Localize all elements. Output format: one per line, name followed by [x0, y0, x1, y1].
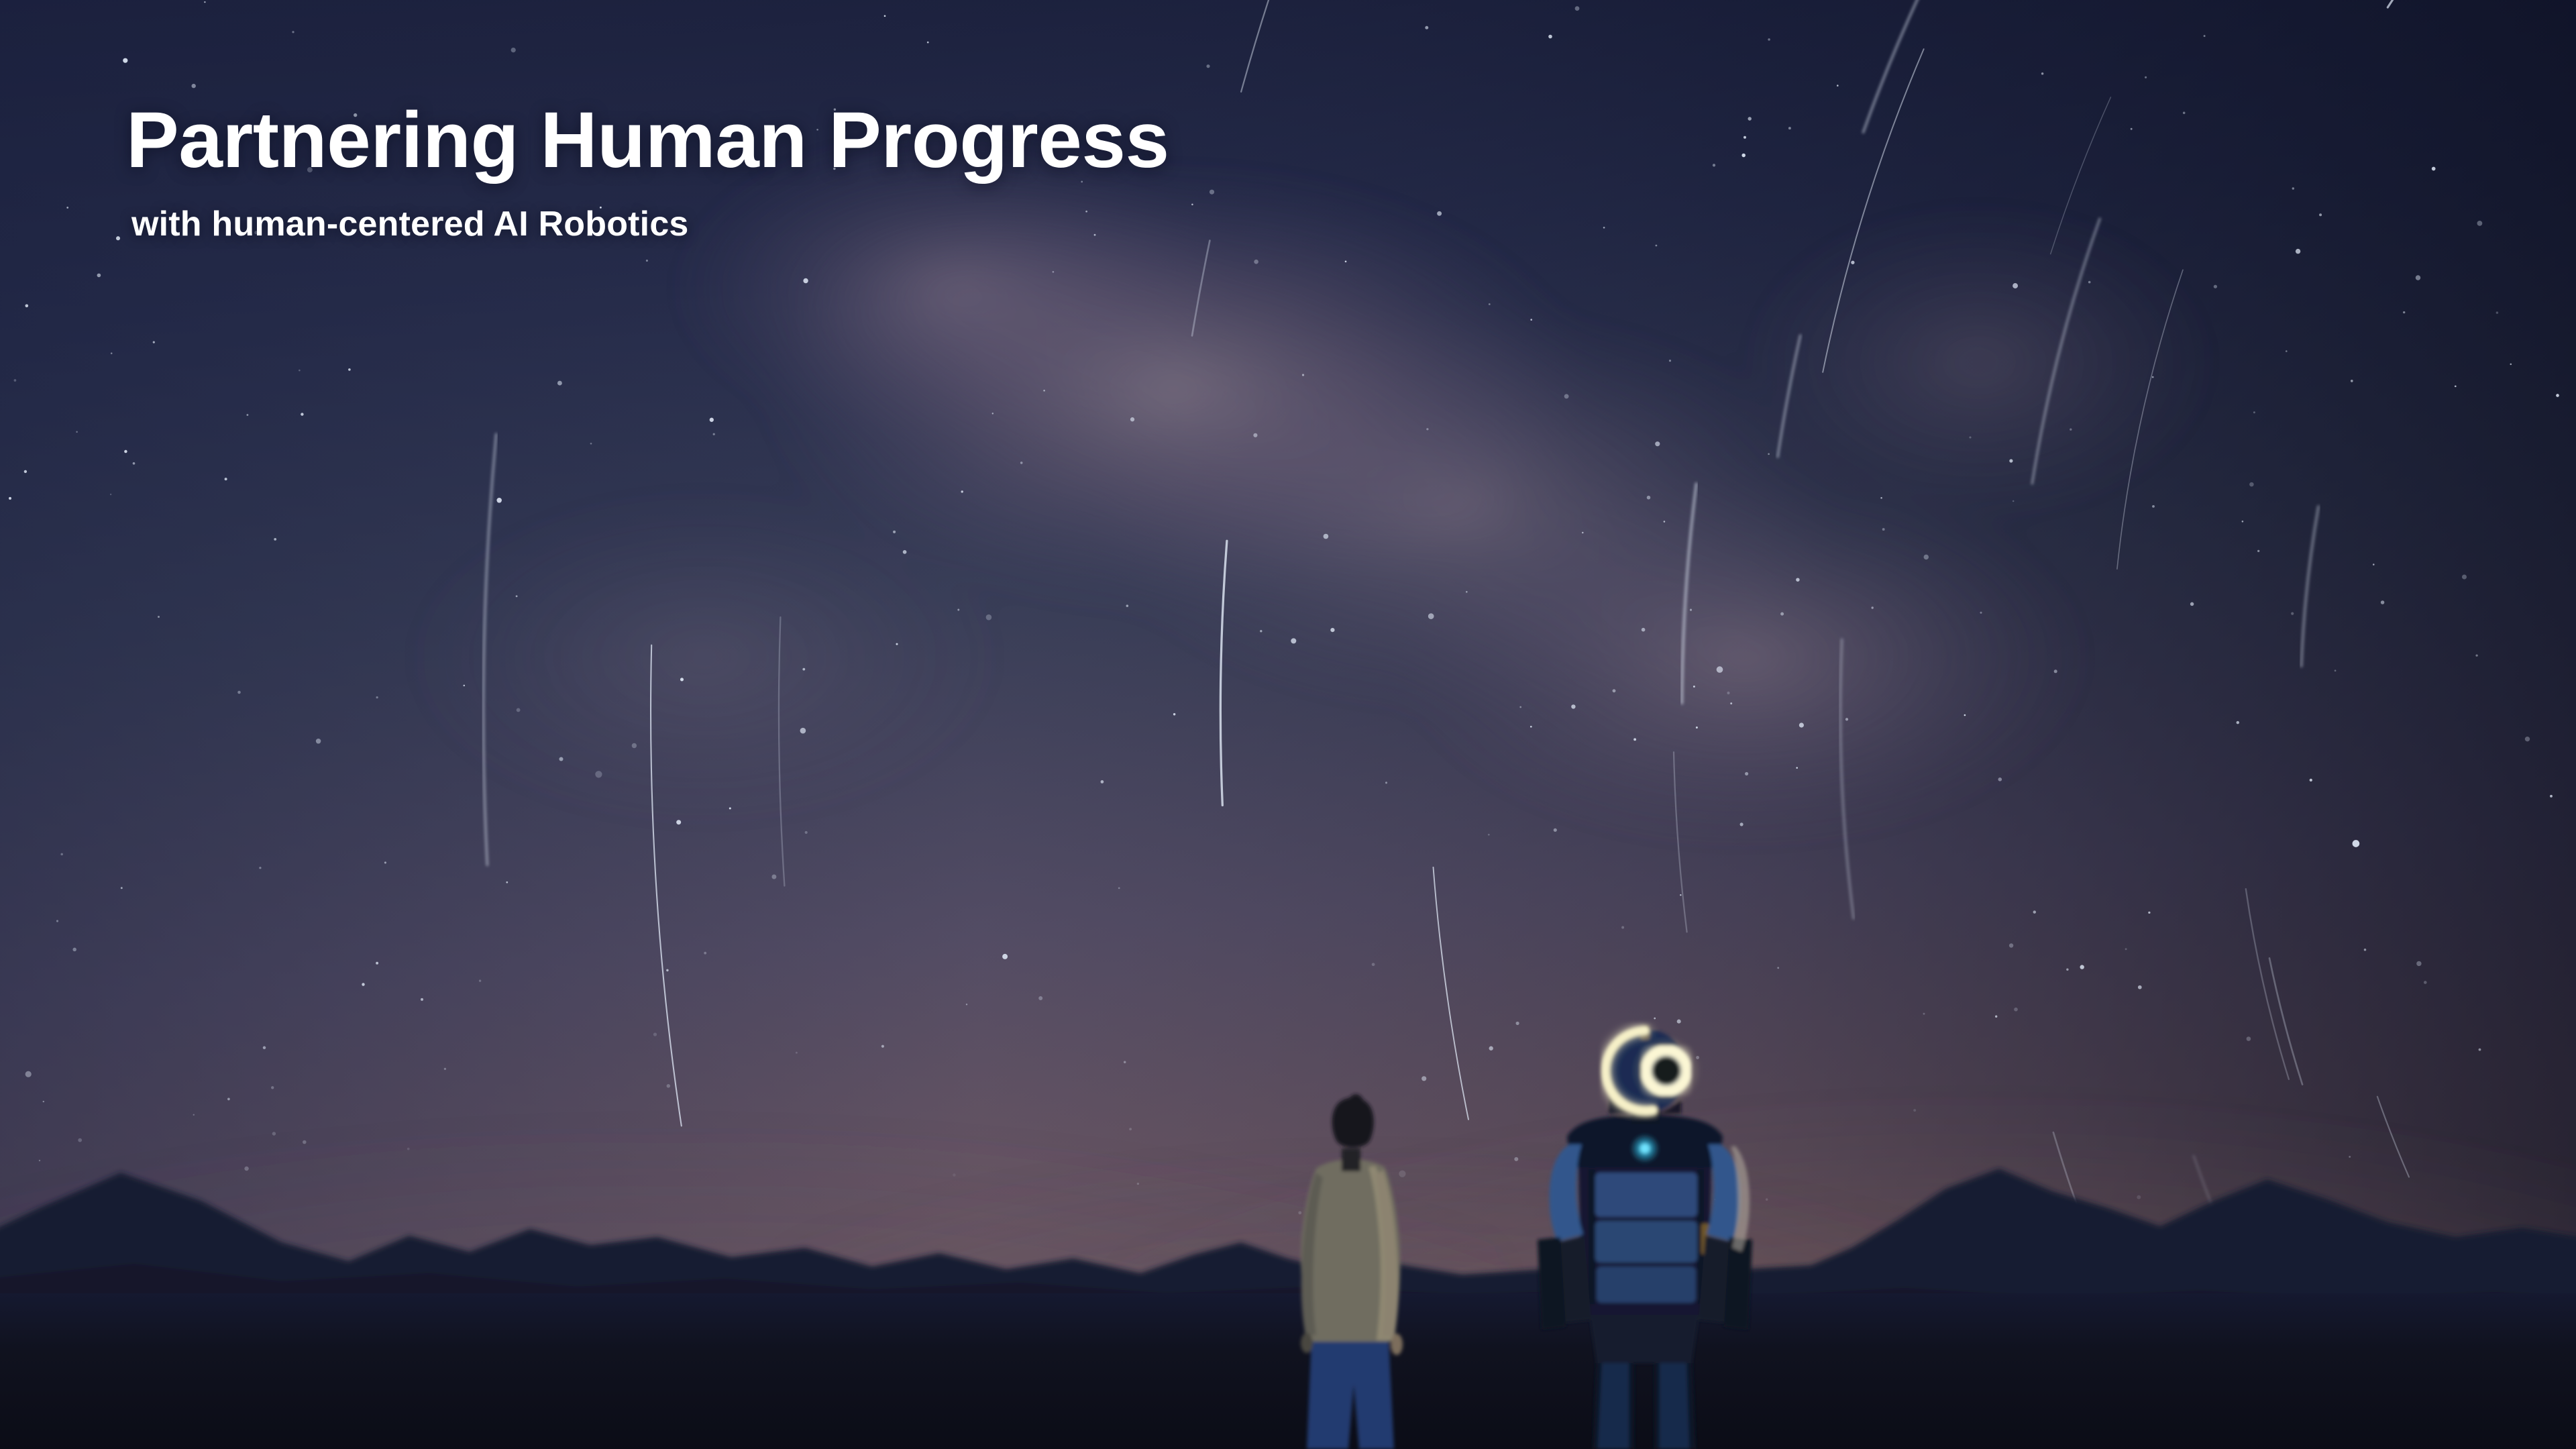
star-dot	[1345, 260, 1347, 262]
star-dot	[557, 381, 562, 386]
star-dot	[158, 616, 160, 618]
star-dot	[2349, 1156, 2351, 1158]
star-dot	[1880, 497, 1882, 499]
star-dot	[2403, 311, 2405, 313]
star-dot	[953, 1173, 956, 1177]
star-dot	[376, 962, 378, 965]
robot-pelvis	[1589, 1307, 1700, 1363]
star-dot	[1780, 612, 1784, 616]
star-dot	[802, 668, 805, 671]
star-dot	[204, 1, 205, 3]
star-dot	[421, 998, 423, 1001]
star-dot	[704, 952, 706, 955]
star-dot	[1385, 782, 1387, 784]
star-dot	[292, 31, 294, 33]
star-dot	[1129, 1128, 1132, 1130]
star-dot	[992, 413, 994, 414]
star-dot	[2014, 1008, 2018, 1012]
star-dot	[713, 433, 715, 435]
star-dot	[2510, 364, 2512, 366]
star-dot	[2070, 429, 2072, 431]
star-dot	[14, 379, 17, 382]
star-dot	[1130, 417, 1134, 421]
star-dot	[771, 875, 776, 879]
star-dot	[1514, 1157, 1518, 1161]
star-dot	[1642, 628, 1646, 632]
star-dot	[2131, 128, 2133, 130]
star-dot	[2041, 72, 2044, 75]
star-dot	[1530, 319, 1532, 321]
star-dot	[1575, 6, 1580, 11]
star-dot	[272, 1132, 276, 1135]
star-dot	[676, 820, 681, 824]
star-dot	[2012, 500, 2015, 502]
star-dot	[2145, 76, 2147, 78]
star-dot	[1428, 613, 1434, 619]
star-dot	[1998, 777, 2002, 782]
star-dot	[39, 1160, 40, 1161]
star-dot	[2364, 949, 2367, 951]
star-dot	[1489, 1046, 1493, 1051]
star-dot	[1677, 1020, 1681, 1024]
hero-banner-stage: Partnering Human Progress with human-cen…	[0, 0, 2576, 1449]
star-dot	[192, 84, 196, 88]
human-neck	[1342, 1148, 1360, 1171]
star-dot	[2525, 737, 2530, 741]
star-dot	[2286, 350, 2288, 352]
star-dot	[2088, 281, 2091, 284]
star-dot	[1053, 271, 1055, 273]
star-dot	[246, 414, 248, 416]
star-dot	[1730, 702, 1732, 704]
star-dot	[1924, 555, 1929, 559]
star-dot	[2496, 311, 2499, 314]
star-dot	[2033, 910, 2036, 913]
star-dot	[1882, 528, 1885, 531]
star-dot	[133, 462, 136, 465]
star-dot	[2012, 283, 2018, 288]
star-dot	[2310, 779, 2312, 782]
star-dot	[590, 443, 592, 445]
star-dot	[2353, 840, 2360, 847]
star-dot	[559, 757, 563, 761]
star-dot	[25, 304, 28, 307]
star-dot	[2351, 380, 2353, 382]
star-dot	[927, 42, 929, 44]
star-dot	[2416, 275, 2421, 280]
star-dot	[511, 48, 516, 52]
star-dot	[1696, 727, 1698, 729]
star-dot	[2242, 521, 2244, 523]
star-dot	[2066, 968, 2068, 970]
star-dot	[2292, 187, 2294, 189]
star-dot	[303, 1140, 307, 1144]
star-dot	[2137, 1195, 2141, 1199]
star-dot	[1727, 692, 1729, 694]
star-dot	[1766, 1198, 1768, 1201]
star-dot	[1426, 428, 1428, 430]
star-dot	[1969, 436, 1971, 438]
star-dot	[2204, 35, 2206, 37]
star-dot	[1548, 35, 1552, 39]
star-dot	[1399, 1171, 1405, 1177]
star-dot	[1516, 1022, 1519, 1025]
star-dot	[803, 278, 808, 283]
star-dot	[1713, 164, 1715, 166]
star-dot	[43, 1101, 44, 1102]
star-dot	[1647, 496, 1651, 500]
star-dot	[2152, 376, 2154, 378]
star-dot	[2009, 459, 2012, 462]
star-dot	[1717, 666, 1723, 673]
star-dot	[123, 58, 127, 63]
star-dot	[1489, 303, 1491, 305]
star-dot	[1210, 190, 1214, 195]
star-dot	[1980, 612, 1982, 614]
star-dot	[237, 691, 241, 694]
star-dot	[24, 470, 27, 473]
star-dot	[1291, 638, 1296, 643]
robot-spine-seam-left	[1589, 1170, 1595, 1304]
star-dot	[1298, 1211, 1301, 1214]
star-dot	[1002, 954, 1008, 959]
star-dot	[407, 1148, 410, 1150]
star-dot	[2257, 550, 2259, 552]
star-dot	[1324, 534, 1329, 539]
star-dot	[1680, 894, 1681, 896]
star-dot	[1530, 726, 1532, 728]
star-dot	[1206, 64, 1210, 68]
star-dot	[1748, 117, 1751, 120]
star-dot	[1582, 532, 1584, 534]
star-dot	[2424, 981, 2427, 984]
star-dot	[666, 969, 668, 971]
star-dot	[1913, 1109, 1916, 1112]
star-dot	[2054, 669, 2057, 673]
star-dot	[1995, 1016, 1997, 1018]
star-dot	[1554, 828, 1557, 832]
star-dot	[110, 494, 111, 495]
star-dot	[25, 1071, 32, 1077]
star-dot	[1372, 963, 1375, 966]
star-dot	[299, 370, 301, 372]
star-dot	[1191, 204, 1193, 206]
star-dot	[384, 861, 386, 863]
robot-eye-light	[1631, 1036, 1701, 1106]
star-dot	[274, 538, 276, 541]
star-dot	[2381, 600, 2385, 604]
star-dot	[1254, 260, 1258, 264]
star-dot	[506, 881, 508, 883]
star-dot	[896, 643, 898, 645]
star-dot	[1437, 211, 1442, 216]
star-dot	[2319, 213, 2322, 216]
human-hand-right	[1391, 1334, 1403, 1355]
star-dot	[376, 696, 378, 698]
star-dot	[1621, 926, 1624, 929]
star-dot	[2183, 112, 2186, 115]
star-dot	[1799, 722, 1804, 727]
star-dot	[516, 595, 518, 597]
star-dot	[227, 1098, 230, 1101]
robot-chest-led	[1630, 1134, 1660, 1163]
star-dot	[1260, 630, 1262, 632]
star-dot	[2416, 961, 2421, 966]
foreground-ground	[0, 1293, 2576, 1449]
star-dot	[517, 708, 521, 712]
star-dot	[1693, 686, 1695, 688]
star-dot	[1740, 822, 1743, 826]
star-dot	[646, 260, 648, 262]
star-dot	[2296, 249, 2300, 254]
star-dot	[2462, 574, 2467, 579]
star-dot	[1488, 834, 1490, 836]
star-dot	[60, 853, 63, 856]
star-dot	[1654, 1018, 1656, 1020]
star-dot	[271, 1086, 274, 1089]
star-dot	[796, 1052, 798, 1054]
star-dot	[259, 867, 261, 869]
star-dot	[2475, 654, 2477, 656]
star-dot	[2432, 167, 2436, 171]
star-dot	[2455, 385, 2457, 387]
star-dot	[1743, 136, 1746, 139]
star-dot	[1777, 967, 1779, 969]
star-dot	[1124, 1061, 1126, 1064]
star-dot	[1564, 394, 1569, 398]
page-title: Partnering Human Progress	[126, 101, 1169, 180]
star-dot	[2249, 482, 2254, 487]
star-dot	[316, 739, 321, 744]
star-dot	[97, 274, 101, 278]
star-dot	[2214, 285, 2217, 288]
star-dot	[1137, 1183, 1139, 1185]
star-dot	[966, 1004, 967, 1005]
star-dot	[595, 771, 602, 777]
star-dot	[1118, 888, 1120, 890]
star-dot	[479, 979, 481, 981]
star-dot	[1669, 360, 1671, 362]
star-dot	[986, 614, 992, 621]
star-dot	[124, 450, 127, 453]
star-dot	[1020, 462, 1023, 464]
star-dot	[1741, 154, 1746, 158]
star-dot	[348, 368, 351, 371]
star-dot	[362, 983, 364, 985]
star-dot	[800, 728, 806, 734]
star-dot	[121, 887, 123, 889]
star-dot	[1330, 628, 1334, 632]
star-dot	[1613, 689, 1616, 692]
star-dot	[1519, 706, 1521, 708]
star-dot	[881, 1045, 884, 1048]
star-dot	[76, 431, 78, 433]
star-dot	[2253, 411, 2255, 413]
star-dot	[805, 831, 808, 834]
hero-text-block: Partnering Human Progress with human-cen…	[126, 101, 1169, 244]
star-dot	[301, 413, 303, 415]
star-dot	[1768, 453, 1770, 455]
star-dot	[1571, 704, 1575, 708]
star-dot	[56, 920, 58, 922]
star-dot	[1603, 227, 1605, 229]
star-dot	[653, 1032, 657, 1036]
star-dot	[2080, 965, 2084, 969]
star-dot	[263, 1046, 266, 1050]
star-dot	[2152, 505, 2155, 508]
star-dot	[667, 1084, 670, 1087]
star-dot	[1466, 591, 1468, 593]
robot-back-panel-2	[1595, 1221, 1697, 1263]
star-dot	[1101, 780, 1104, 784]
star-dot	[1302, 374, 1304, 376]
star-dot	[78, 1138, 82, 1142]
star-dot	[1796, 578, 1799, 581]
star-dot	[903, 550, 907, 554]
star-dot	[1253, 433, 1257, 437]
star-dot	[884, 15, 886, 17]
star-dot	[116, 236, 120, 240]
star-dot	[464, 685, 466, 687]
star-dot	[2556, 394, 2559, 397]
star-dot	[1664, 521, 1666, 523]
star-dot	[1837, 85, 1839, 87]
human-head	[1332, 1097, 1374, 1147]
star-dot	[111, 352, 113, 354]
human-hand-left	[1301, 1333, 1313, 1353]
star-dot	[1768, 38, 1770, 41]
star-dot	[496, 498, 502, 503]
star-dot	[2125, 948, 2127, 950]
star-dot	[1633, 738, 1636, 741]
star-dot	[2477, 221, 2483, 226]
star-dot	[957, 609, 959, 611]
star-dot	[729, 807, 731, 809]
star-dot	[225, 478, 227, 480]
star-dot	[2138, 985, 2142, 989]
star-dot	[1690, 609, 1692, 611]
star-dot	[1745, 772, 1748, 775]
star-dot	[2479, 1049, 2481, 1051]
star-dot	[680, 678, 684, 681]
star-dot	[2247, 1036, 2251, 1041]
star-dot	[2148, 912, 2150, 914]
star-dot	[1964, 714, 1966, 716]
page-subtitle: with human-centered AI Robotics	[131, 204, 1169, 244]
star-dot	[1425, 26, 1428, 30]
star-dot	[66, 207, 68, 209]
star-dot	[2009, 943, 2013, 947]
star-dot	[444, 1068, 446, 1070]
star-dot	[1126, 604, 1129, 607]
star-dot	[1923, 1013, 1925, 1015]
star-dot	[1655, 441, 1660, 446]
star-dot	[632, 743, 637, 748]
robot-back-panel-3	[1597, 1267, 1696, 1303]
star-dot	[2550, 795, 2553, 798]
star-dot	[710, 418, 714, 422]
star-dot	[2334, 669, 2337, 672]
star-dot	[1421, 1076, 1426, 1081]
star-dot	[2291, 612, 2294, 615]
star-dot	[2373, 563, 2375, 566]
star-dot	[244, 1167, 248, 1171]
star-dot	[1872, 606, 1874, 608]
star-dot	[1796, 767, 1798, 769]
star-dot	[9, 497, 11, 500]
star-dot	[72, 948, 76, 952]
star-dot	[1656, 245, 1658, 247]
robot-leg-right-panel	[1660, 1362, 1689, 1449]
star-dot	[1038, 996, 1042, 1000]
robot-leg-left-panel	[1598, 1362, 1629, 1449]
star-dot	[893, 531, 896, 533]
star-dot	[961, 490, 963, 492]
robot-back-panel-1	[1595, 1173, 1697, 1217]
star-dot	[193, 1114, 195, 1116]
star-dot	[1788, 127, 1791, 129]
star-dot	[1851, 261, 1854, 264]
star-dot	[1173, 713, 1175, 715]
star-dot	[2190, 602, 2194, 606]
star-dot	[1845, 718, 1848, 720]
star-dot	[1043, 390, 1045, 392]
star-dot	[153, 341, 155, 343]
star-dot	[2237, 721, 2239, 724]
